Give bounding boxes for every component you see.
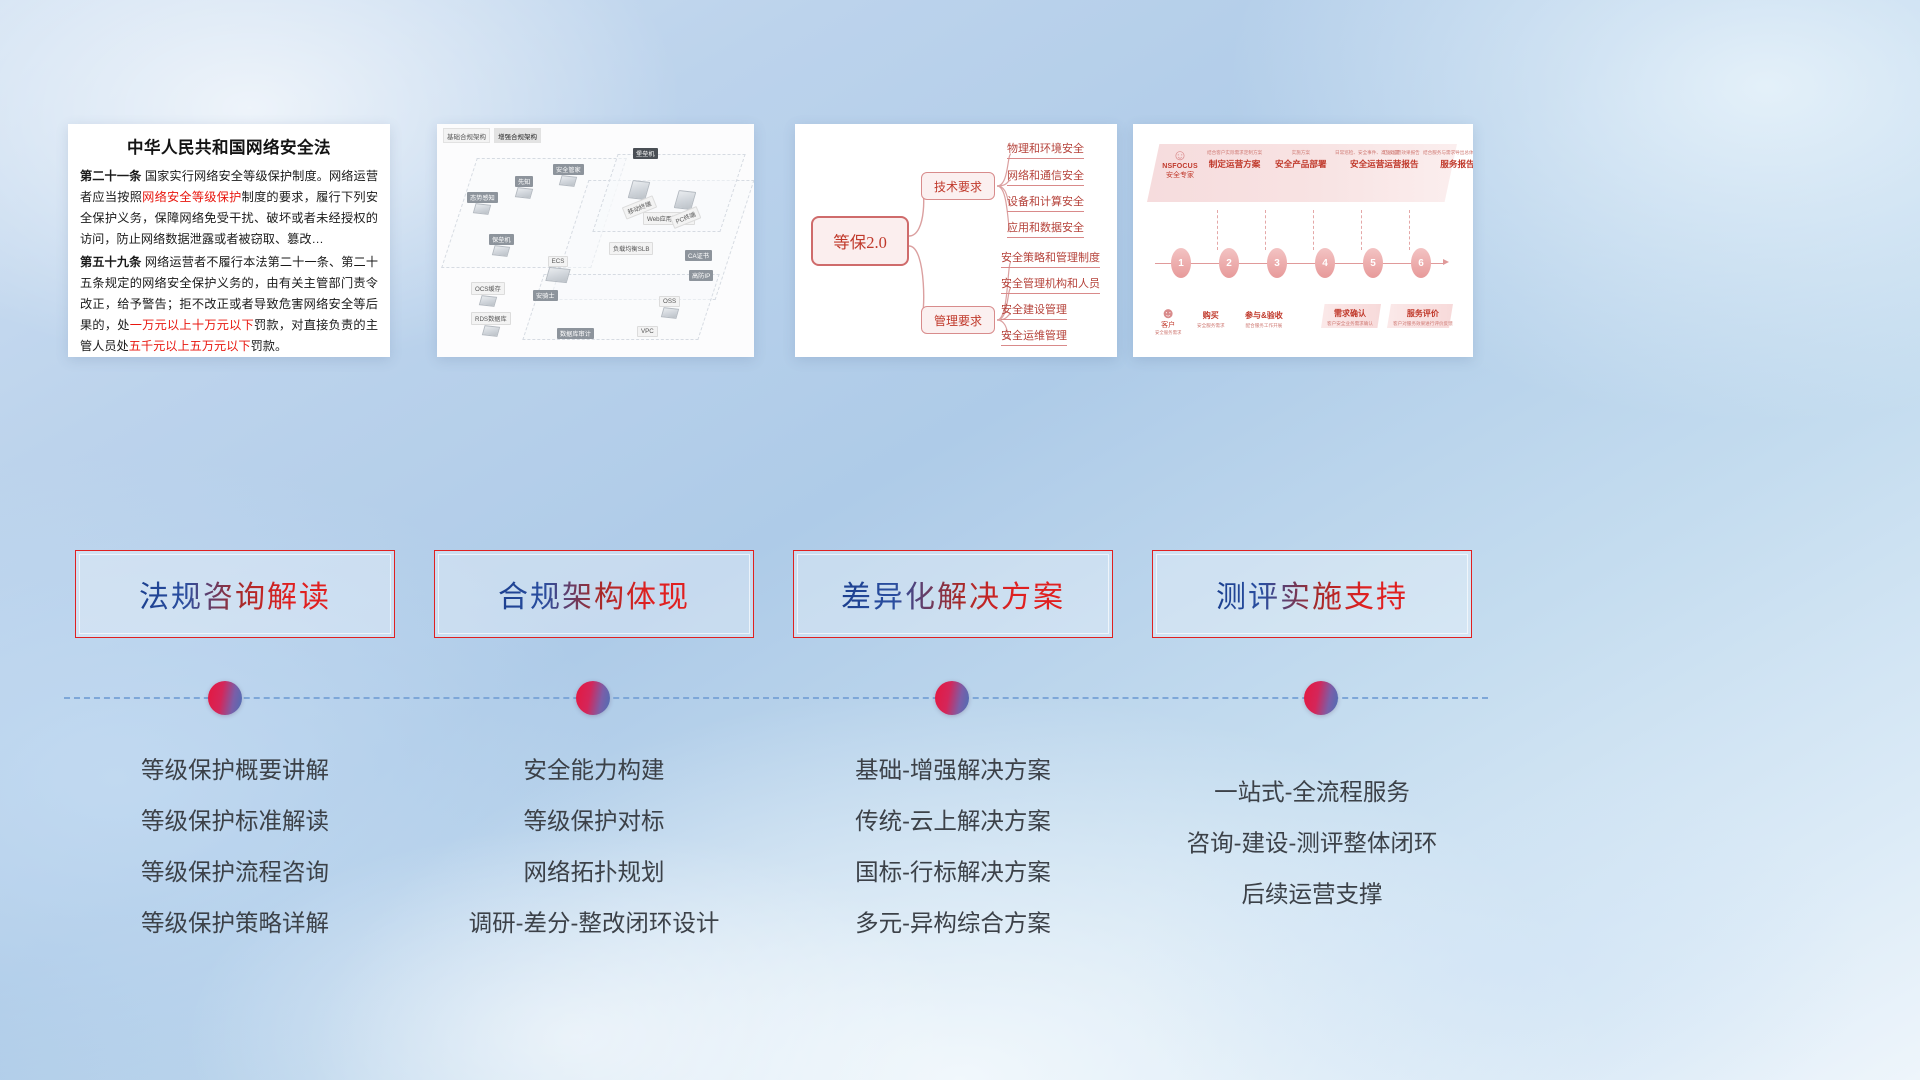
nsfocus-bottom-4: 服务评价 客户对服务效果进行评价反馈 — [1393, 308, 1453, 327]
step-sub: 结合服务与需求导出总体运营效果 — [1423, 150, 1473, 155]
law-article-59-highlight-b: 五千元以上五万元以下 — [129, 339, 251, 353]
list-item: 国标-行标解决方案 — [793, 847, 1113, 898]
architecture-node-db-audit: 数据库审计 — [557, 328, 594, 339]
node-label: 堡垒机 — [633, 148, 658, 159]
section-title-box-4[interactable]: 测评实施支持 — [1152, 550, 1472, 638]
timeline-axis — [1155, 263, 1445, 264]
architecture-node-situational-awareness: 态势感知 — [467, 192, 498, 214]
node-label: 负载均衡SLB — [609, 242, 653, 255]
nsfocus-bottom-1: 购买 安全服务需求 — [1197, 310, 1225, 329]
bottom-title: 购买 — [1197, 310, 1225, 321]
law-article-21-highlight: 网络安全等级保护 — [142, 190, 241, 204]
connector-dash-1 — [1217, 210, 1218, 250]
customer-sub: 安全服务需求 — [1155, 330, 1181, 336]
architecture-zone-bottom — [522, 274, 719, 340]
bottom-title: 需求确认 — [1327, 308, 1373, 319]
architecture-node-xianzhi: 先知 — [515, 176, 533, 198]
timeline-step-number-1: 1 — [1171, 248, 1191, 278]
timeline-marker-4[interactable] — [1304, 681, 1338, 715]
architecture-node-anti-ddos: 高防IP — [689, 270, 713, 281]
person-star-icon: ☺ — [1157, 148, 1203, 163]
node-label: 高防IP — [689, 270, 713, 281]
bottom-sub: 配合服务工作开展 — [1245, 323, 1283, 329]
architecture-node-ca-cert: CA证书 — [685, 250, 712, 261]
card-cybersecurity-law[interactable]: 中华人民共和国网络安全法 第二十一条 国家实行网络安全等级保护制度。网络运营者应… — [68, 124, 390, 357]
architecture-node-anqishi: 安骑士 — [533, 290, 558, 301]
section-title-2: 合规架构体现 — [498, 572, 690, 616]
list-item: 等级保护策略详解 — [75, 898, 395, 949]
law-title: 中华人民共和国网络安全法 — [80, 134, 378, 158]
mindmap-branch-technical: 技术要求 — [921, 172, 995, 200]
architecture-tab-basic[interactable]: 基础合规架构 — [443, 128, 490, 143]
section-title-4: 测评实施支持 — [1216, 572, 1408, 616]
connector-dash-4 — [1361, 210, 1362, 250]
architecture-node-ecs: ECS — [547, 256, 569, 282]
step-title: 服务报告 — [1423, 158, 1473, 170]
section-list-3: 基础-增强解决方案 传统-云上解决方案 国标-行标解决方案 多元-异构综合方案 — [793, 745, 1113, 949]
timeline-arrow-icon — [1443, 259, 1449, 265]
section-list-4: 一站式-全流程服务 咨询-建设-测评整体闭环 后续运营支撑 — [1152, 745, 1472, 920]
timeline-marker-1[interactable] — [208, 681, 242, 715]
section-title-box-1[interactable]: 法规咨询解读 — [75, 550, 395, 638]
card-compliance-architecture[interactable]: 基础合规架构 增强合规架构 堡垒机 安全管家 先知 态势感知 — [437, 124, 754, 357]
architecture-node-oss: OSS — [659, 296, 680, 318]
law-article-21-label: 第二十一条 — [80, 169, 141, 183]
node-label: OSS — [659, 296, 680, 307]
list-item: 基础-增强解决方案 — [793, 745, 1113, 796]
mindmap-leaf-device: 设备和计算安全 — [1007, 193, 1084, 212]
node-label: CA证书 — [685, 250, 712, 261]
mindmap-root: 等保2.0 — [811, 216, 909, 266]
timeline-marker-2[interactable] — [576, 681, 610, 715]
connector-dash-3 — [1313, 210, 1314, 250]
architecture-node-bastion-top: 堡垒机 — [633, 148, 658, 159]
list-item: 后续运营支撑 — [1152, 869, 1472, 920]
server-icon — [473, 203, 491, 215]
connector-dash-2 — [1265, 210, 1266, 250]
section-list-2: 安全能力构建 等级保护对标 网络拓扑规划 调研-差分-整改闭环设计 — [434, 745, 754, 949]
timeline-dashed-line — [64, 697, 1488, 699]
node-label: ECS — [548, 256, 569, 267]
customer-icon: ☻ — [1155, 306, 1181, 321]
architecture-node-vpc: VPC — [637, 326, 658, 337]
list-item: 等级保护对标 — [434, 796, 754, 847]
list-item: 网络拓扑规划 — [434, 847, 754, 898]
server-icon — [479, 295, 497, 307]
server-icon — [515, 187, 533, 199]
node-label: 态势感知 — [467, 192, 498, 203]
architecture-node-mobile-terminal: 移动终端 — [623, 180, 656, 214]
node-label: 数据库审计 — [557, 328, 594, 339]
nsfocus-customer: ☻ 客户 安全服务需求 — [1155, 306, 1181, 336]
server-icon — [492, 245, 510, 257]
list-item: 安全能力构建 — [434, 745, 754, 796]
node-label: 保垒机 — [489, 234, 514, 245]
architecture-diagram: 基础合规架构 增强合规架构 堡垒机 安全管家 先知 态势感知 — [437, 124, 754, 357]
list-item: 等级保护流程咨询 — [75, 847, 395, 898]
law-article-59-label: 第五十九条 — [80, 255, 141, 269]
server-icon — [660, 307, 678, 319]
customer-label: 客户 — [1155, 321, 1181, 330]
node-label: OCS缓存 — [471, 282, 505, 295]
server-icon — [559, 175, 577, 187]
node-label: VPC — [637, 326, 658, 337]
architecture-node-ocs: OCS缓存 — [471, 282, 505, 306]
section-title-box-2[interactable]: 合规架构体现 — [434, 550, 754, 638]
architecture-node-pc-terminal: PC终端 — [671, 190, 700, 224]
timeline-step-number-4: 4 — [1315, 248, 1335, 278]
architecture-node-rds: RDS数据库 — [471, 312, 511, 336]
nsfocus-bottom-3: 需求确认 客户安全业务需求确认 — [1327, 308, 1373, 327]
law-document: 中华人民共和国网络安全法 第二十一条 国家实行网络安全等级保护制度。网络运营者应… — [68, 124, 390, 357]
law-article-59: 第五十九条 网络运营者不履行本法第二十一条、第二十五条规定的网络安全保护义务的，… — [80, 252, 378, 357]
bottom-sub: 客户对服务效果进行评价反馈 — [1393, 321, 1453, 327]
section-title-3: 差异化解决方案 — [841, 572, 1065, 616]
timeline-step-number-5: 5 — [1363, 248, 1383, 278]
bottom-title: 服务评价 — [1393, 308, 1453, 319]
list-item: 一站式-全流程服务 — [1152, 767, 1472, 818]
nsfocus-diagram: ☺ NSFOCUS 安全专家 结合客户实际需求定制方案 制定运营方案 实施方案 … — [1133, 124, 1473, 357]
nsfocus-bottom-2: 参与&验收 配合服务工作开展 — [1245, 310, 1283, 329]
mindmap-leaf-policy: 安全策略和管理制度 — [1001, 249, 1100, 268]
section-lists-row: 等级保护概要讲解 等级保护标准解读 等级保护流程咨询 等级保护策略详解 安全能力… — [0, 745, 1920, 995]
list-item: 调研-差分-整改闭环设计 — [434, 898, 754, 949]
node-label: 安骑士 — [533, 290, 558, 301]
nsfocus-step-2: 实施方案 安全产品部署 — [1275, 150, 1327, 170]
list-item: 传统-云上解决方案 — [793, 796, 1113, 847]
timeline-step-number-6: 6 — [1411, 248, 1431, 278]
section-title-box-3[interactable]: 差异化解决方案 — [793, 550, 1113, 638]
step-title: 安全产品部署 — [1275, 158, 1327, 170]
timeline-step-number-3: 3 — [1267, 248, 1287, 278]
bottom-title: 参与&验收 — [1245, 310, 1283, 321]
section-title-1: 法规咨询解读 — [139, 572, 331, 616]
node-label: 安全管家 — [553, 164, 584, 175]
nsfocus-step-4: 汇总运营效果报告 运营报告 — [1383, 150, 1420, 170]
timeline-marker-3[interactable] — [935, 681, 969, 715]
list-item: 多元-异构综合方案 — [793, 898, 1113, 949]
mindmap-leaf-application: 应用和数据安全 — [1007, 219, 1084, 238]
preview-cards-row: 中华人民共和国网络安全法 第二十一条 国家实行网络安全等级保护制度。网络运营者应… — [0, 124, 1920, 360]
step-title: 运营报告 — [1383, 158, 1420, 170]
architecture-node-slb: 负载均衡SLB — [609, 242, 653, 255]
architecture-tab-enhanced[interactable]: 增强合规架构 — [494, 128, 541, 143]
server-icon — [545, 267, 570, 283]
list-item: 等级保护概要讲解 — [75, 745, 395, 796]
node-label: 先知 — [515, 176, 533, 187]
section-list-1: 等级保护概要讲解 等级保护标准解读 等级保护流程咨询 等级保护策略详解 — [75, 745, 395, 949]
mindmap-leaf-network: 网络和通信安全 — [1007, 167, 1084, 186]
bottom-sub: 客户安全业务需求确认 — [1327, 321, 1373, 327]
bottom-sub: 安全服务需求 — [1197, 323, 1225, 329]
list-item: 咨询-建设-测评整体闭环 — [1152, 818, 1472, 869]
step-sub: 结合客户实际需求定制方案 — [1207, 150, 1262, 155]
mindmap-leaf-org: 安全管理机构和人员 — [1001, 275, 1100, 294]
step-sub: 实施方案 — [1275, 150, 1327, 155]
mindmap-leaf-construction: 安全建设管理 — [1001, 301, 1067, 320]
list-item: 等级保护标准解读 — [75, 796, 395, 847]
law-article-59-text-c: 罚款。 — [251, 339, 288, 353]
mindmap-leaf-physical: 物理和环境安全 — [1007, 140, 1084, 159]
step-sub: 汇总运营效果报告 — [1383, 150, 1420, 155]
nsfocus-step-1: 结合客户实际需求定制方案 制定运营方案 — [1207, 150, 1262, 170]
card-mindmap-dengbao[interactable]: 等保2.0 技术要求 管理要求 物理和环境安全 网络和通信安全 设备和计算安全 … — [795, 124, 1117, 357]
section-titles-row: 法规咨询解读 合规架构体现 差异化解决方案 测评实施支持 — [0, 550, 1920, 638]
mindmap-branch-management: 管理要求 — [921, 306, 995, 334]
server-icon — [482, 325, 500, 337]
mindmap-diagram: 等保2.0 技术要求 管理要求 物理和环境安全 网络和通信安全 设备和计算安全 … — [795, 124, 1117, 357]
nsfocus-brand: NSFOCUS — [1157, 163, 1203, 172]
nsfocus-expert: ☺ NSFOCUS 安全专家 — [1157, 148, 1203, 181]
nsfocus-role: 安全专家 — [1157, 172, 1203, 181]
mindmap-leaf-operation: 安全运维管理 — [1001, 327, 1067, 346]
law-article-21: 第二十一条 国家实行网络安全等级保护制度。网络运营者应当按照网络安全等级保护制度… — [80, 166, 378, 250]
law-article-59-highlight-a: 一万元以上十万元以下 — [130, 318, 254, 332]
node-label: RDS数据库 — [471, 312, 511, 325]
architecture-node-bastion: 保垒机 — [489, 234, 514, 256]
timeline-step-number-2: 2 — [1219, 248, 1239, 278]
architecture-tabs[interactable]: 基础合规架构 增强合规架构 — [443, 128, 541, 143]
connector-dash-5 — [1409, 210, 1410, 250]
architecture-node-security-butler: 安全管家 — [553, 164, 584, 186]
step-title: 制定运营方案 — [1207, 158, 1262, 170]
card-nsfocus-timeline[interactable]: ☺ NSFOCUS 安全专家 结合客户实际需求定制方案 制定运营方案 实施方案 … — [1133, 124, 1473, 357]
nsfocus-step-5: 结合服务与需求导出总体运营效果 服务报告 — [1423, 150, 1473, 170]
